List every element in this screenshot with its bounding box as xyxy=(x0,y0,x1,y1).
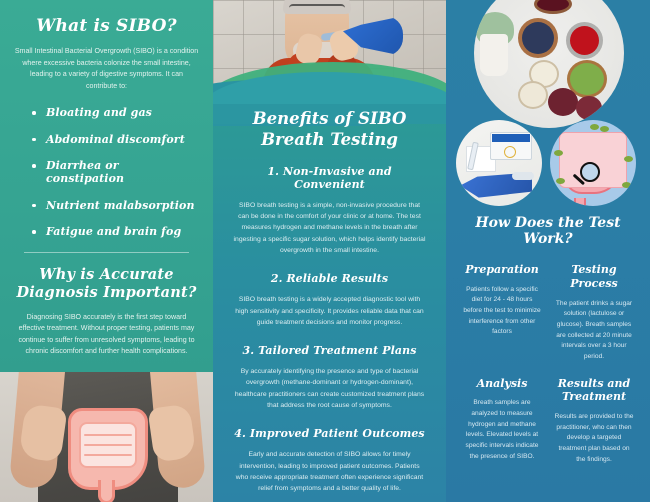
list-item: Abdominal discomfort xyxy=(30,133,199,146)
step-body: Results are provided to the practitioner… xyxy=(554,412,634,465)
step-results-and-treatment: Results and Treatment Results are provid… xyxy=(548,377,640,466)
list-item: Diarrhea or constipation xyxy=(30,159,199,185)
benefit-title-3: 3. Tailored Treatment Plans xyxy=(231,344,428,357)
diagnosis-heading: Why is Accurate Diagnosis Important? xyxy=(14,266,199,302)
left-panel: What is SIBO? Small Intestinal Bacterial… xyxy=(0,0,213,502)
test-kit-photo-circle xyxy=(456,120,542,206)
list-item: Fatigue and brain fog xyxy=(30,225,199,238)
step-body: The patient drinks a sugar solution (lac… xyxy=(554,299,634,363)
middle-content: Benefits of SIBO Breath Testing 1. Non-I… xyxy=(213,108,446,494)
step-title: Results and Treatment xyxy=(554,377,634,405)
benefit-body-3: By accurately identifying the presence a… xyxy=(231,366,428,411)
left-content: What is SIBO? Small Intestinal Bacterial… xyxy=(0,0,213,358)
intestine-cutout-icon xyxy=(68,408,148,490)
middle-panel: Benefits of SIBO Breath Testing 1. Non-I… xyxy=(213,0,446,502)
how-test-works-heading: How Does the Test Work? xyxy=(456,215,640,247)
benefits-heading: Benefits of SIBO Breath Testing xyxy=(231,108,428,151)
benefit-body-4: Early and accurate detection of SIBO all… xyxy=(231,449,428,494)
page-title: What is SIBO? xyxy=(14,16,199,37)
step-title: Preparation xyxy=(462,263,542,277)
intestine-photo xyxy=(0,372,213,502)
step-title: Analysis xyxy=(462,377,542,391)
step-preparation: Preparation Patients follow a specific d… xyxy=(456,263,548,363)
symptom-list: Bloating and gas Abdominal discomfort Di… xyxy=(14,106,199,238)
brochure-page: What is SIBO? Small Intestinal Bacterial… xyxy=(0,0,650,502)
step-body: Patients follow a specific diet for 24 -… xyxy=(462,285,542,338)
magnifier-icon xyxy=(580,162,600,182)
step-analysis: Analysis Breath samples are analyzed to … xyxy=(456,377,548,466)
diagnosis-text: Diagnosing SIBO accurately is the first … xyxy=(14,312,199,358)
food-photo-circle xyxy=(474,0,624,128)
step-body: Breath samples are analyzed to measure h… xyxy=(462,398,542,462)
right-panel: How Does the Test Work? Preparation Pati… xyxy=(446,0,650,502)
list-item: Nutrient malabsorption xyxy=(30,199,199,212)
right-content: How Does the Test Work? Preparation Pati… xyxy=(446,215,650,479)
section-divider xyxy=(24,252,189,253)
step-title: Testing Process xyxy=(554,263,634,291)
benefit-body-2: SIBO breath testing is a widely accepted… xyxy=(231,294,428,328)
gut-illustration-circle xyxy=(550,120,636,206)
list-item: Bloating and gas xyxy=(30,106,199,119)
benefit-title-4: 4. Improved Patient Outcomes xyxy=(231,427,428,440)
benefit-body-1: SIBO breath testing is a simple, non-inv… xyxy=(231,200,428,256)
sibo-intro-text: Small Intestinal Bacterial Overgrowth (S… xyxy=(14,46,199,92)
step-testing-process: Testing Process The patient drinks a sug… xyxy=(548,263,640,363)
test-steps-grid: Preparation Patients follow a specific d… xyxy=(456,263,640,479)
benefit-title-1: 1. Non-Invasive and Convenient xyxy=(231,165,428,191)
benefit-title-2: 2. Reliable Results xyxy=(231,272,428,285)
